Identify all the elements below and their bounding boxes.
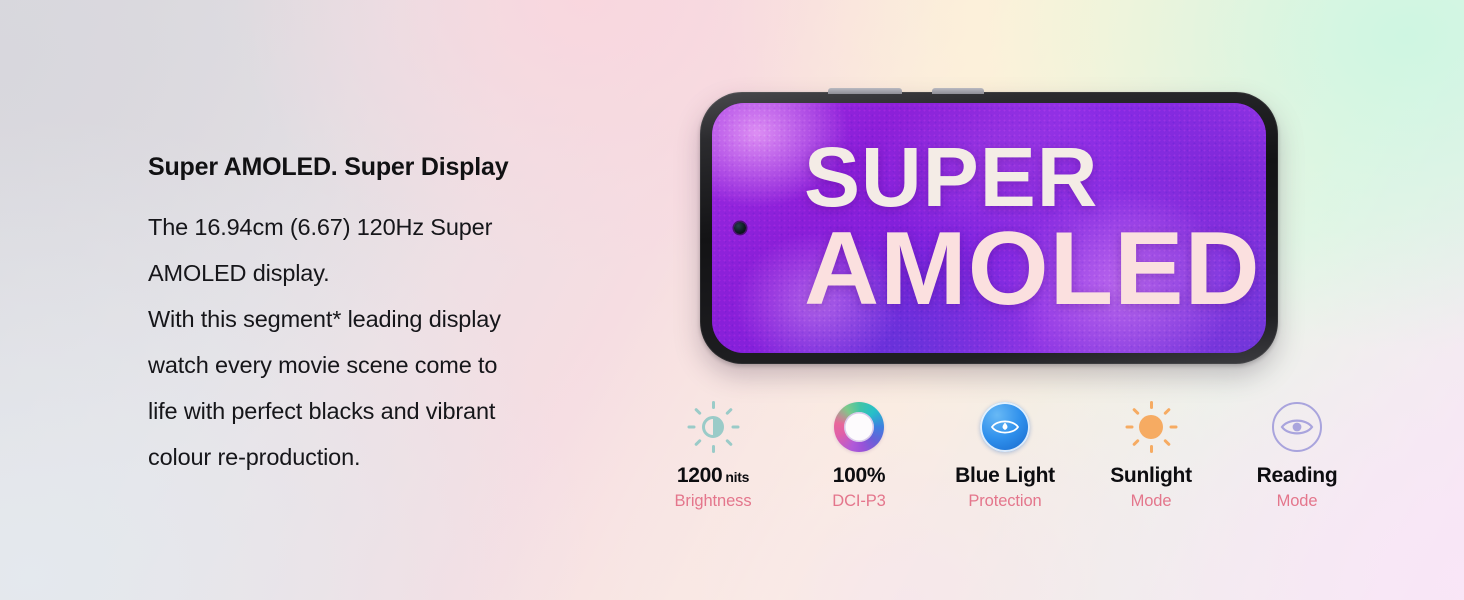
feature-number: Sunlight (1110, 464, 1192, 487)
wheel-glyph (834, 402, 884, 452)
body-line: watch every movie scene come to (148, 342, 648, 388)
eye-glyph-icon (1280, 416, 1314, 438)
feature-blue-light: Blue Light Protection (932, 396, 1078, 511)
feature-reading: Reading Mode (1224, 396, 1370, 511)
front-camera-icon (734, 222, 746, 234)
sun-glyph (686, 400, 740, 454)
screen-headline-top: SUPER (804, 138, 1266, 218)
body-line: With this segment* leading display (148, 296, 648, 342)
copy-block: Super AMOLED. Super Display The 16.94cm … (148, 152, 648, 480)
feature-value: Sunlight (1110, 464, 1192, 488)
blue-light-eye-icon (980, 396, 1030, 458)
reading-eye-glyph (1272, 402, 1322, 452)
body-line: colour re-production. (148, 434, 648, 480)
feature-number: Reading (1257, 464, 1338, 487)
brightness-sun-icon (686, 396, 740, 458)
volume-key (828, 88, 902, 94)
feature-sublabel: Mode (1131, 492, 1172, 511)
phone-frame: SUPER AMOLED (700, 92, 1278, 364)
phone-screen: SUPER AMOLED (712, 103, 1266, 353)
feature-sublabel: Brightness (675, 492, 752, 511)
feature-number: 100% (833, 464, 886, 487)
screen-text: SUPER AMOLED (712, 103, 1266, 353)
screen-headline-bottom: AMOLED (804, 220, 1266, 319)
feature-value: Reading (1257, 464, 1338, 488)
page-title: Super AMOLED. Super Display (148, 152, 648, 182)
feature-sublabel: DCI-P3 (832, 492, 886, 511)
power-key (932, 88, 984, 94)
body-line: life with perfect blacks and vibrant (148, 388, 648, 434)
feature-brightness: 1200nits Brightness (640, 396, 786, 511)
body-copy: The 16.94cm (6.67) 120Hz Super AMOLED di… (148, 204, 648, 480)
feature-number: 1200 (677, 464, 723, 487)
sun-glyph (1124, 400, 1178, 454)
sunlight-sun-icon (1124, 396, 1178, 458)
color-wheel-icon (834, 396, 884, 458)
feature-sublabel: Protection (968, 492, 1041, 511)
phone-mockup: SUPER AMOLED (700, 92, 1278, 364)
feature-value: Blue Light (955, 464, 1055, 488)
eye-outline-icon (990, 417, 1020, 437)
sun-core (702, 416, 724, 438)
reading-eye-icon (1272, 396, 1322, 458)
feature-value: 100% (833, 464, 886, 488)
blue-badge-glyph (980, 402, 1030, 452)
body-line: AMOLED display. (148, 250, 648, 296)
feature-strip: 1200nits Brightness 100% DCI-P3 Blue Lig… (640, 396, 1370, 511)
feature-unit: nits (725, 469, 749, 485)
wheel-center (844, 412, 874, 442)
feature-value: 1200nits (677, 464, 749, 488)
body-line: The 16.94cm (6.67) 120Hz Super (148, 204, 648, 250)
feature-number: Blue Light (955, 464, 1055, 487)
feature-dci-p3: 100% DCI-P3 (786, 396, 932, 511)
feature-sublabel: Mode (1277, 492, 1318, 511)
sun-core (1139, 415, 1163, 439)
feature-sunlight: Sunlight Mode (1078, 396, 1224, 511)
